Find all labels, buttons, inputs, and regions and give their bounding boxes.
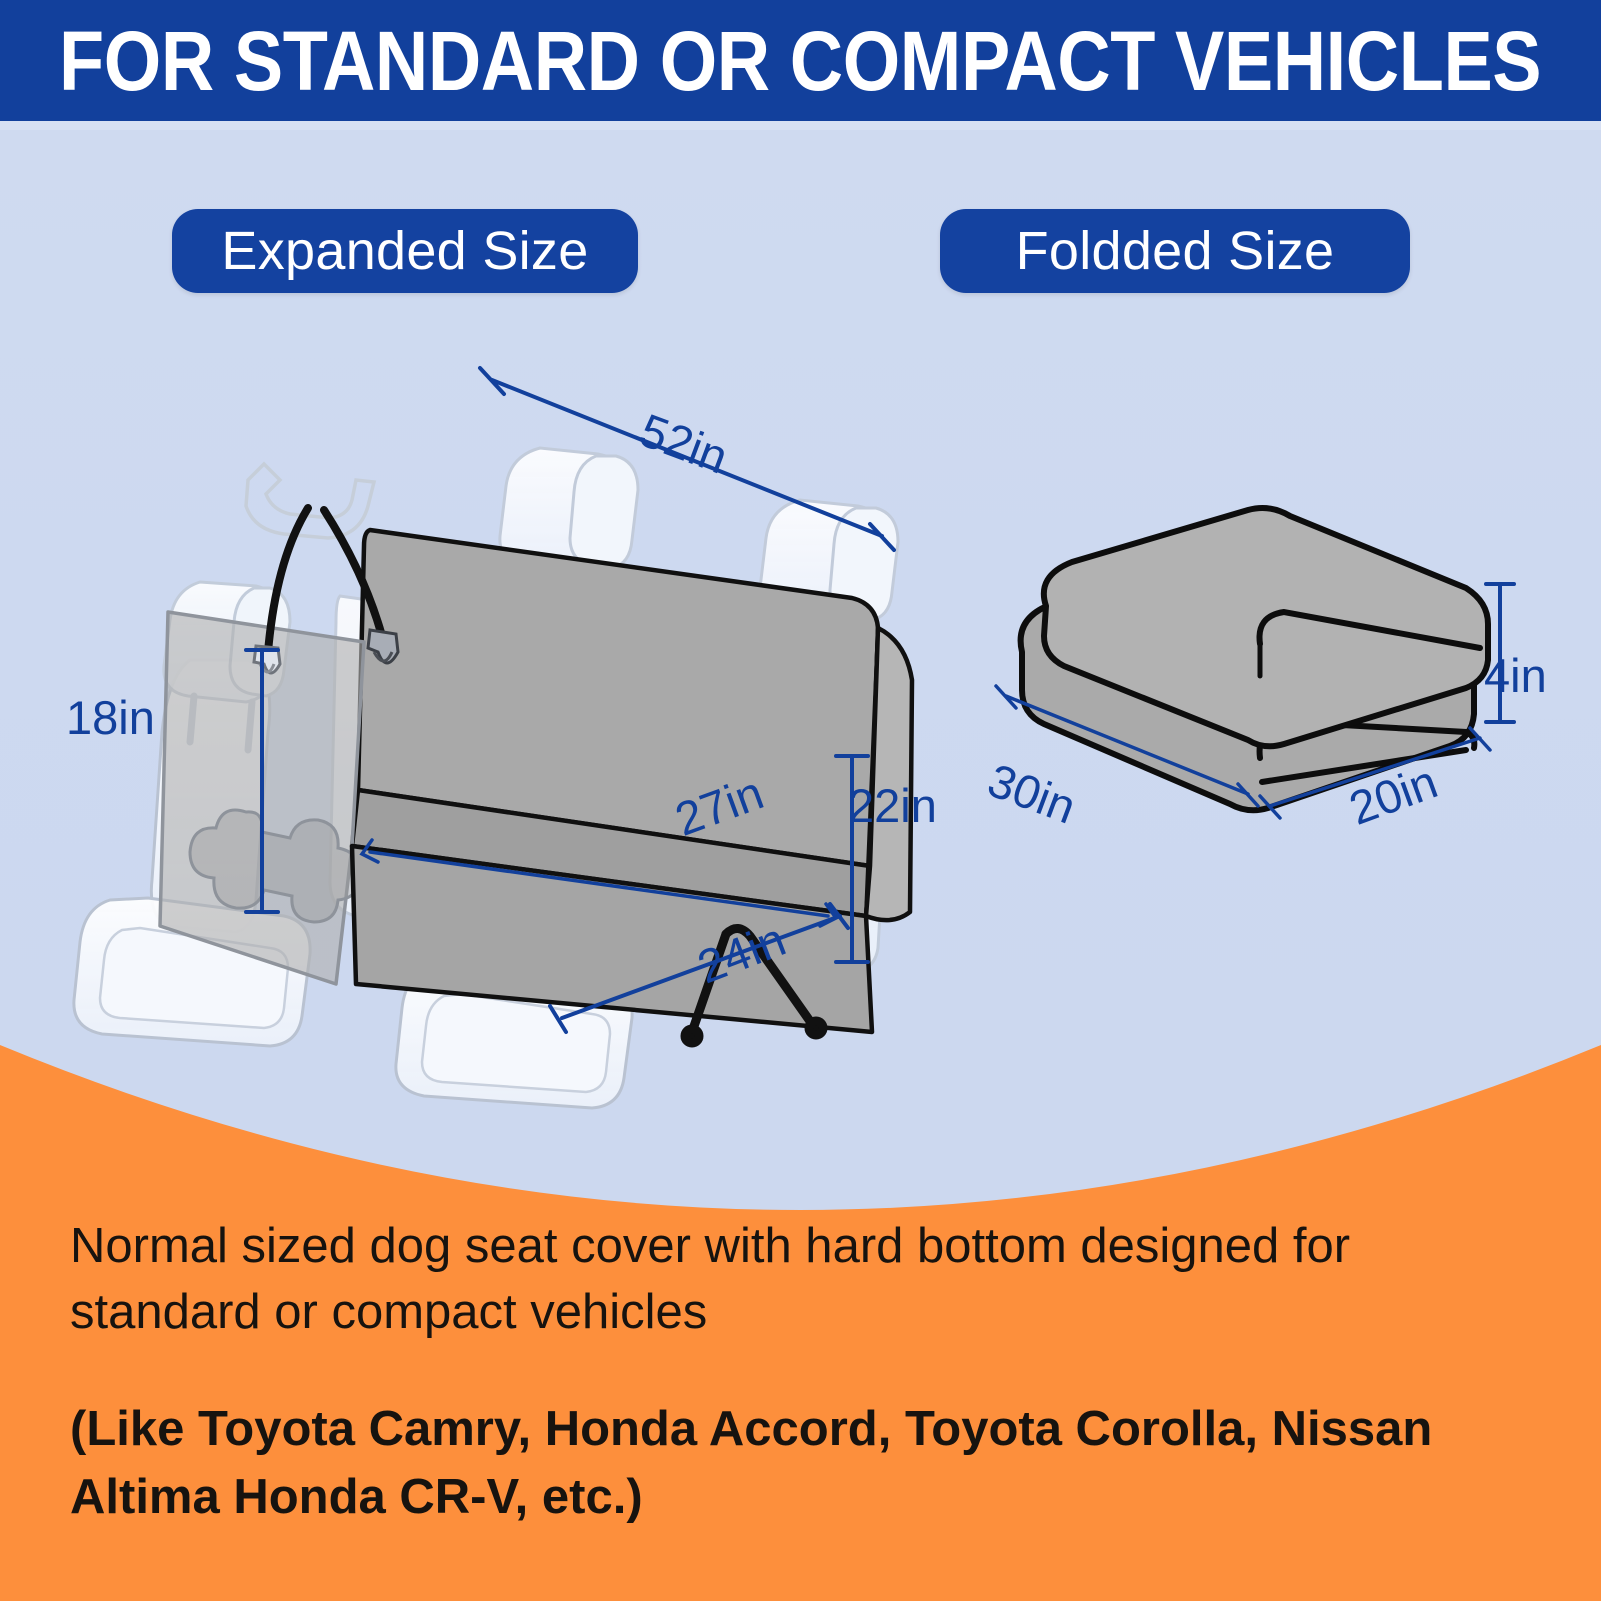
page-title: FOR STANDARD OR COMPACT VEHICLES bbox=[59, 19, 1541, 103]
dimension-label-4in: 4in bbox=[1484, 648, 1547, 703]
badge-folded-size[interactable]: Foldded Size bbox=[940, 209, 1410, 293]
headrest-hook-outline bbox=[246, 464, 374, 538]
badge-expanded-label: Expanded Size bbox=[221, 220, 588, 282]
header-banner: FOR STANDARD OR COMPACT VEHICLES bbox=[0, 0, 1601, 121]
header-underline-rule bbox=[0, 121, 1601, 130]
compatible-models-text: (Like Toyota Camry, Honda Accord, Toyota… bbox=[70, 1396, 1550, 1531]
description-text: Normal sized dog seat cover with hard bo… bbox=[70, 1214, 1550, 1345]
expanded-size-illustration bbox=[40, 360, 960, 1060]
badge-folded-label: Foldded Size bbox=[1016, 220, 1335, 282]
infographic-page: FOR STANDARD OR COMPACT VEHICLES bbox=[0, 0, 1601, 1601]
dimension-label-22in: 22in bbox=[848, 778, 937, 833]
badge-expanded-size[interactable]: Expanded Size bbox=[172, 209, 638, 293]
dimension-label-18in: 18in bbox=[66, 690, 155, 745]
